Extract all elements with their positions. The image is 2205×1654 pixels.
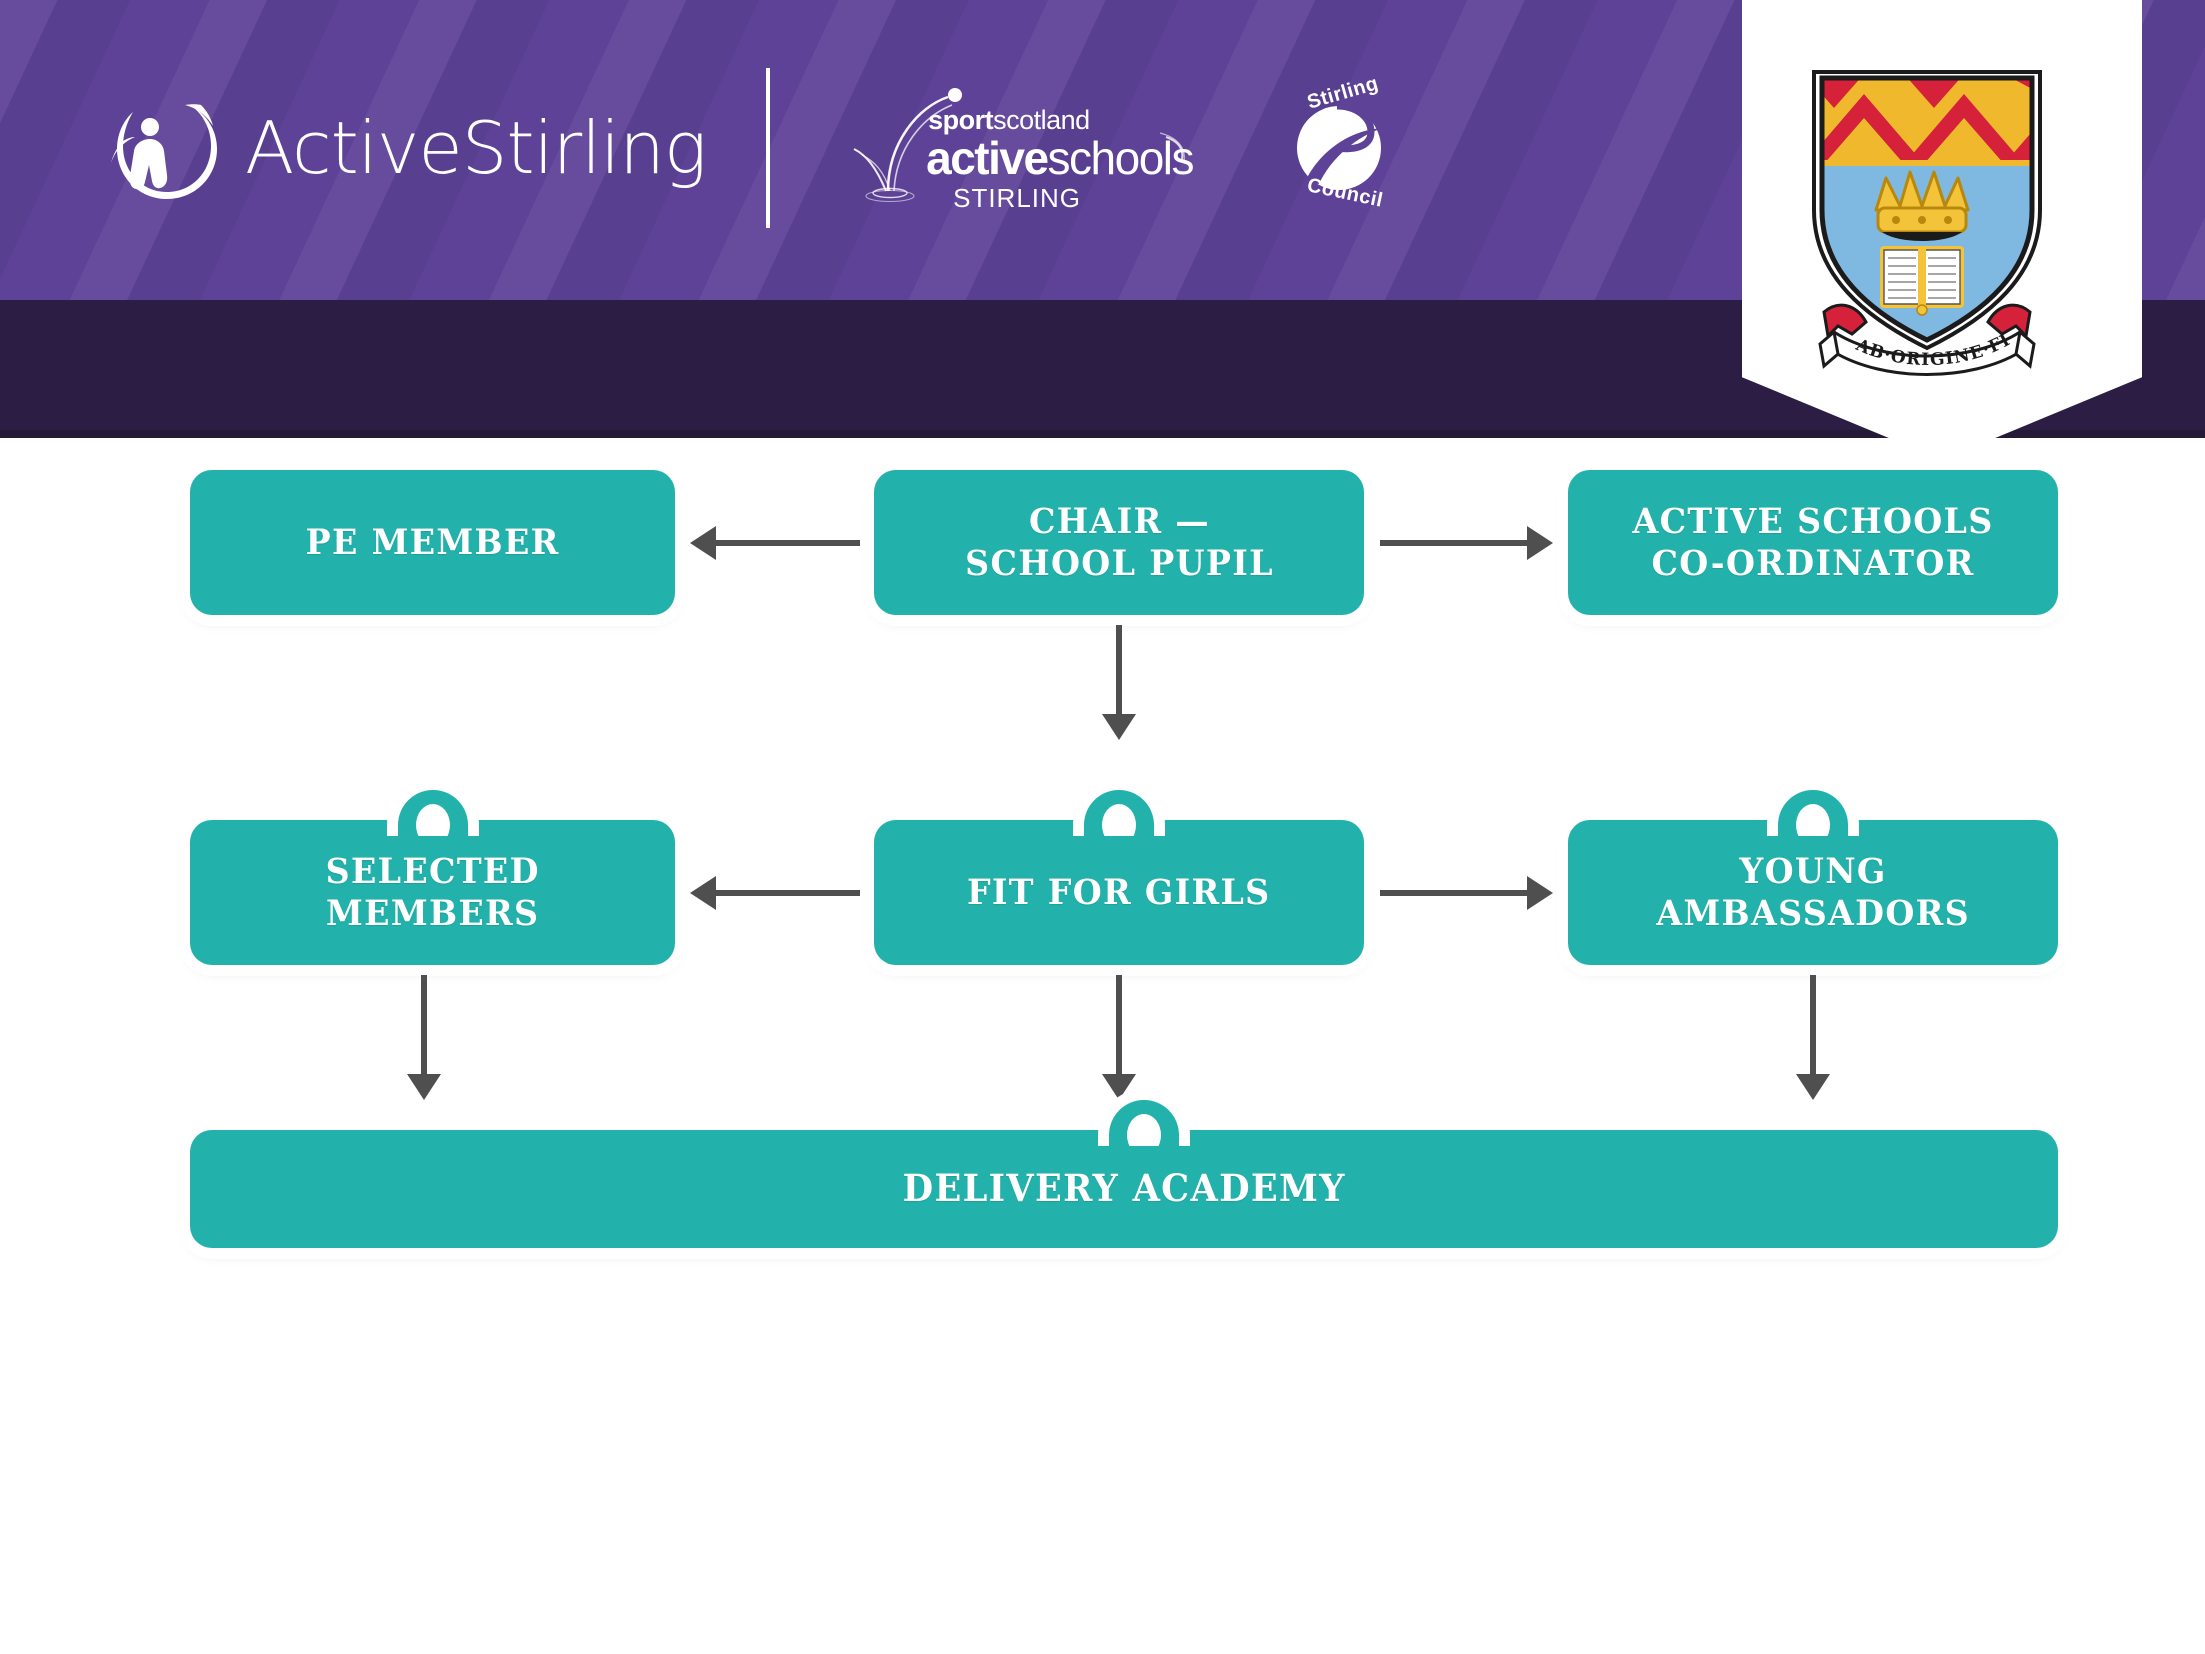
arrow-shaft: [1810, 975, 1816, 1076]
node-chair-school-pupil[interactable]: CHAIR — SCHOOL PUPIL: [874, 470, 1364, 615]
arrow-head-left-icon: [690, 526, 716, 560]
arrow-shaft: [421, 975, 427, 1076]
node-fit-for-girls[interactable]: FIT FOR GIRLS: [874, 820, 1364, 965]
arrow-fit-for-girls-to-delivery-academy: [1099, 975, 1139, 1100]
node-delivery-academy[interactable]: DELIVERY ACADEMY: [190, 1130, 2058, 1248]
active-schools-line3: STIRLING: [953, 183, 1081, 214]
arrow-shaft: [714, 540, 860, 546]
arrow-head-left-icon: [690, 876, 716, 910]
node-young-line1: YOUNG: [1739, 851, 1886, 892]
node-chair-school-pupil-label: CHAIR — SCHOOL PUPIL: [965, 501, 1274, 584]
arrow-fit-for-girls-to-selected-members: [690, 873, 860, 913]
active-schools-line2: activeschools: [926, 131, 1193, 185]
school-crest-icon: AB·ORIGINE·FIDES: [1794, 60, 2090, 390]
node-young-ambassadors[interactable]: YOUNG AMBASSADORS: [1568, 820, 2058, 965]
node-coord-line2: CO-ORDINATOR: [1651, 543, 1974, 584]
node-connector-dot-selected-members: [398, 790, 468, 836]
node-connector-dot-fit-for-girls: [1084, 790, 1154, 836]
node-connector-dot-young-ambassadors: [1778, 790, 1848, 836]
node-chair-line1: CHAIR —: [1028, 501, 1209, 542]
active-stirling-logo-icon: [105, 89, 223, 207]
logo-divider: [766, 68, 770, 228]
node-delivery-academy-label: DELIVERY ACADEMY: [902, 1167, 1345, 1211]
node-chair-line2: SCHOOL PUPIL: [965, 543, 1274, 584]
arrow-head-right-icon: [1527, 876, 1553, 910]
node-young-line2: AMBASSADORS: [1656, 893, 1970, 934]
active-schools-logo: sportscotland activeschools STIRLING: [848, 83, 1193, 213]
node-selected-members-label: SELECTED MEMBERS: [325, 851, 539, 934]
arrow-head-down-icon: [1102, 714, 1136, 740]
arrow-head-down-icon: [407, 1074, 441, 1100]
arrow-shaft: [1116, 975, 1122, 1076]
arrow-shaft: [714, 890, 860, 896]
arrow-selected-members-to-delivery-academy: [404, 975, 444, 1100]
arrow-chair-to-fit-for-girls: [1099, 625, 1139, 740]
node-active-schools-coordinator[interactable]: ACTIVE SCHOOLS CO-ORDINATOR: [1568, 470, 2058, 615]
stirling-council-logo: Stirling Council: [1253, 78, 1423, 218]
sports-council-diagram: PE MEMBER CHAIR — SCHOOL PUPIL ACTIVE SC…: [0, 445, 2205, 1654]
node-young-ambassadors-label: YOUNG AMBASSADORS: [1656, 851, 1970, 934]
school-crest-panel: AB·ORIGINE·FIDES: [1742, 0, 2142, 460]
node-pe-member-label: PE MEMBER: [306, 522, 560, 563]
arrow-fit-for-girls-to-young-ambassadors: [1380, 873, 1553, 913]
node-fit-for-girls-label: FIT FOR GIRLS: [967, 872, 1271, 913]
arrow-shaft: [1380, 890, 1529, 896]
node-selected-members[interactable]: SELECTED MEMBERS: [190, 820, 675, 965]
node-coord-line1: ACTIVE SCHOOLS: [1632, 501, 1993, 542]
arrow-shaft: [1116, 625, 1122, 716]
page-header: ActiveStirling sportscotland activeschoo…: [0, 0, 2205, 445]
node-active-schools-coordinator-label: ACTIVE SCHOOLS CO-ORDINATOR: [1632, 501, 1993, 584]
arrow-head-right-icon: [1527, 526, 1553, 560]
node-selected-line2: MEMBERS: [326, 893, 539, 934]
node-pe-member[interactable]: PE MEMBER: [190, 470, 675, 615]
arrow-chair-to-active-schools-coordinator: [1380, 523, 1553, 563]
arrow-head-down-icon: [1102, 1074, 1136, 1100]
partner-logo-row: ActiveStirling sportscotland activeschoo…: [105, 68, 1423, 228]
node-connector-dot-delivery-academy: [1109, 1100, 1179, 1146]
arrow-young-ambassadors-to-delivery-academy: [1793, 975, 1833, 1100]
node-selected-line1: SELECTED: [325, 851, 539, 892]
arrow-chair-to-pe-member: [690, 523, 860, 563]
active-stirling-wordmark: ActiveStirling: [245, 106, 706, 190]
arrow-shaft: [1380, 540, 1529, 546]
arrow-head-down-icon: [1796, 1074, 1830, 1100]
